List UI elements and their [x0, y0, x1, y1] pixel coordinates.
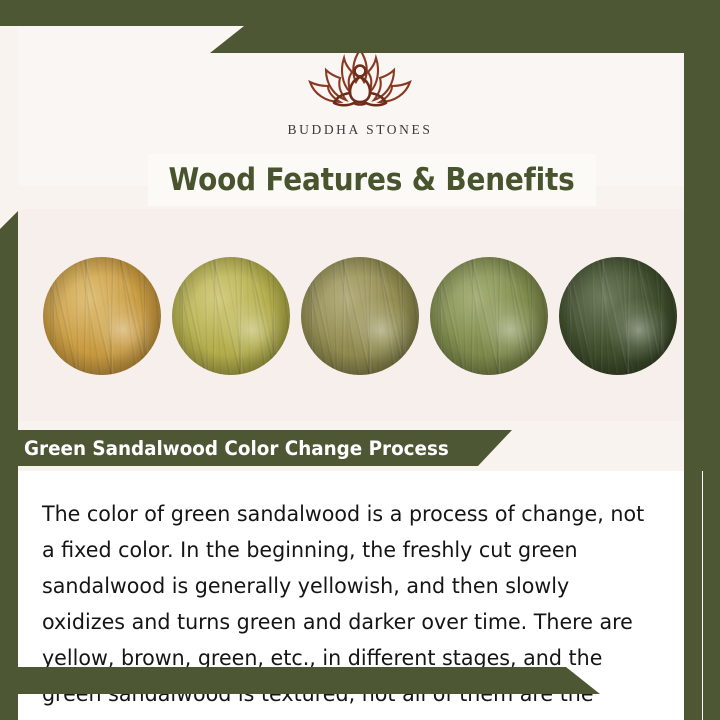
frame-rail-left [0, 211, 18, 720]
frame-band-bottom [0, 667, 600, 694]
page-title-text: Wood Features & Benefits [169, 162, 575, 198]
sphere-shading [559, 257, 677, 375]
sphere-shading [43, 257, 161, 375]
frame-rail-right [684, 26, 702, 720]
brand-name: BUDDHA STONES [288, 122, 433, 138]
section-banner-text: Green Sandalwood Color Change Process [24, 437, 449, 460]
page-title: Wood Features & Benefits [148, 154, 596, 206]
sphere-shading [430, 257, 548, 375]
frame-band-top [210, 26, 720, 53]
bead-stage-1 [43, 257, 161, 375]
bead-row [18, 257, 702, 375]
sphere-shading [301, 257, 419, 375]
bead-stage-2 [172, 257, 290, 375]
brand-logo: BUDDHA STONES [18, 44, 702, 138]
bead-stage-3 [301, 257, 419, 375]
bead-stage-5 [559, 257, 677, 375]
section-banner: Green Sandalwood Color Change Process [0, 430, 512, 466]
poster: BUDDHA STONES Wood Features & Benefits G… [0, 0, 720, 720]
bead-stage-4 [430, 257, 548, 375]
lotus-meditation-icon [298, 44, 422, 116]
sphere-shading [172, 257, 290, 375]
page-body: BUDDHA STONES Wood Features & Benefits G… [0, 26, 702, 694]
bead-strip [18, 209, 702, 421]
